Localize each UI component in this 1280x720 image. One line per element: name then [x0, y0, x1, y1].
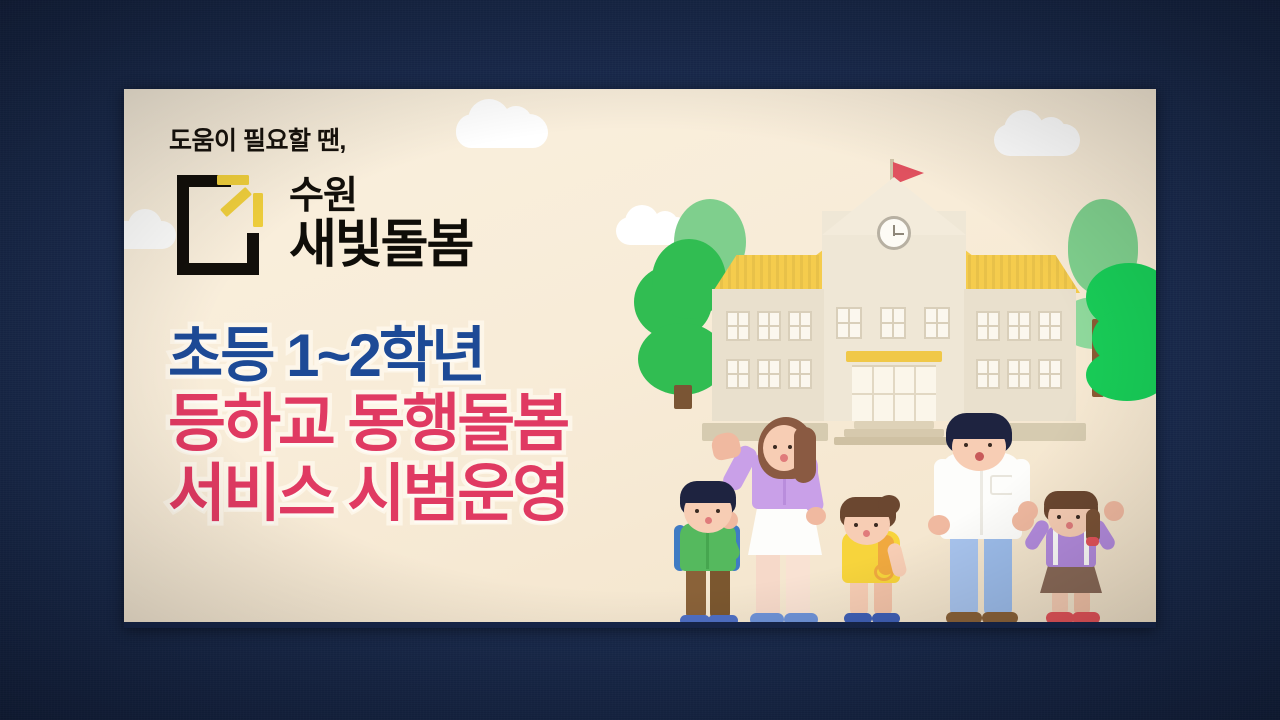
- headline-block: 초등 1~2학년 등하교 동행돌봄 서비스 시범운영: [168, 325, 567, 527]
- window: [757, 359, 781, 389]
- window: [1007, 311, 1031, 341]
- bracket-rays-icon: [169, 169, 271, 275]
- man-hair: [946, 413, 1012, 439]
- window: [880, 307, 906, 339]
- girl2-hair-tie: [1086, 537, 1099, 546]
- girl2-hand: [1018, 501, 1038, 521]
- brand-city: 수원: [289, 177, 472, 215]
- people-group: [652, 423, 1152, 628]
- window: [788, 359, 812, 389]
- boy-green-jacket: [662, 481, 758, 628]
- illustration: [634, 107, 1154, 628]
- headline-line-3: 서비스 시범운영: [168, 462, 567, 526]
- window: [976, 359, 1000, 389]
- man-arm: [934, 459, 952, 523]
- window: [924, 307, 950, 339]
- window: [788, 311, 812, 341]
- girl-hair-bun: [878, 495, 900, 515]
- woman-hair: [794, 427, 816, 483]
- window: [976, 311, 1000, 341]
- window: [726, 359, 750, 389]
- entrance-canopy: [846, 351, 942, 362]
- boy-leg: [710, 563, 730, 621]
- headline-line-2: 등하교 동행돌봄: [168, 392, 567, 456]
- woman-hand: [806, 507, 826, 525]
- entrance-door[interactable]: [852, 365, 936, 421]
- girl-purple-vest: [1022, 493, 1132, 628]
- poster-ground-line: [124, 622, 1156, 628]
- brand-logo-block: 도움이 필요할 땐, 수원 새빛돌봄: [169, 121, 472, 275]
- man-leg: [950, 531, 978, 617]
- headline-line-1: 초등 1~2학년: [168, 325, 567, 386]
- girl-yellow-dress: [824, 497, 924, 628]
- video-frame: 도움이 필요할 땐, 수원 새빛돌봄: [0, 0, 1280, 720]
- boy-leg: [686, 563, 706, 621]
- left-wall: [712, 289, 824, 421]
- shirt-pocket: [990, 475, 1014, 495]
- window: [757, 311, 781, 341]
- girl2-hair: [1044, 491, 1098, 509]
- clock-icon: [877, 216, 911, 250]
- window: [726, 311, 750, 341]
- brand-name: 새빛돌봄: [289, 218, 472, 273]
- man-leg: [984, 531, 1012, 617]
- kicker-text: 도움이 필요할 땐,: [169, 121, 472, 157]
- man-hand: [928, 515, 950, 535]
- window: [836, 307, 862, 339]
- brand-text: 수원 새빛돌봄: [289, 177, 472, 273]
- right-wall: [964, 289, 1076, 421]
- window: [1038, 311, 1062, 341]
- window: [1038, 359, 1062, 389]
- promo-poster: 도움이 필요할 땐, 수원 새빛돌봄: [124, 89, 1156, 628]
- girl2-hand: [1104, 501, 1124, 521]
- school-building-icon: [694, 159, 1098, 445]
- window: [1007, 359, 1031, 389]
- boy-hair: [680, 481, 736, 503]
